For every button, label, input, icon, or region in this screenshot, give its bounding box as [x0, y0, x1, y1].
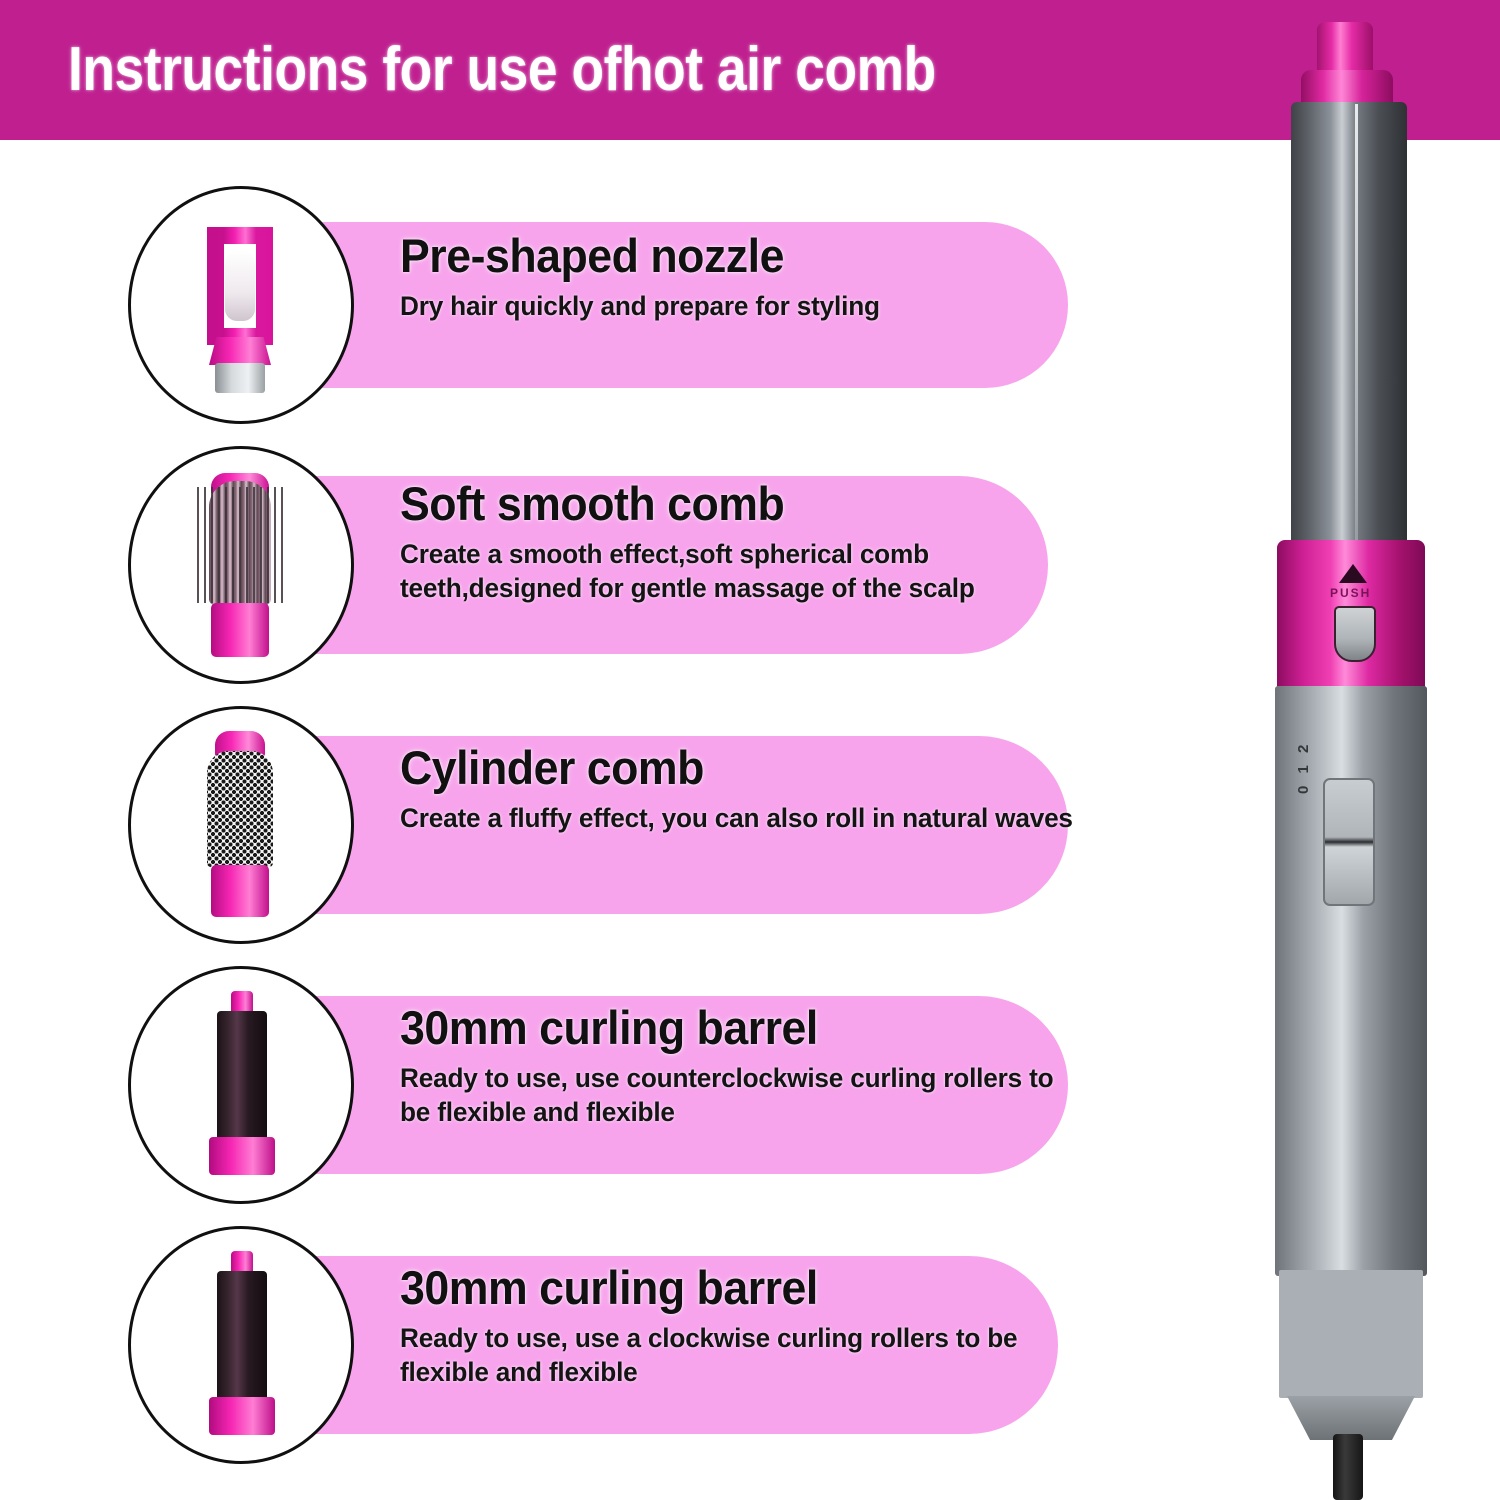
feature-title: Pre-shaped nozzle	[400, 232, 1065, 279]
feature-list: Pre-shaped nozzle Dry hair quickly and p…	[0, 140, 1200, 1500]
air-intake-mesh	[1279, 1270, 1423, 1398]
device-barrel-seam	[1355, 104, 1358, 548]
hot-air-styler-device: PUSH 0 1 2	[1205, 0, 1500, 1500]
feature-thumbnail-oval	[128, 706, 354, 944]
cylinder-comb-icon	[181, 725, 301, 925]
curling-barrel-clockwise-icon	[181, 1245, 301, 1445]
feature-thumbnail-oval	[128, 1226, 354, 1464]
feature-text-block: Cylinder comb Create a fluffy effect, yo…	[400, 744, 1100, 835]
feature-description: Ready to use, use a clockwise curling ro…	[400, 1321, 1079, 1389]
feature-text-block: Soft smooth comb Create a smooth effect,…	[400, 480, 1100, 605]
feature-title: 30mm curling barrel	[400, 1264, 1065, 1311]
feature-thumbnail-oval	[128, 966, 354, 1204]
feature-title: 30mm curling barrel	[400, 1004, 1065, 1051]
feature-row-soft-smooth-comb: Soft smooth comb Create a smooth effect,…	[0, 446, 1200, 706]
feature-title: Cylinder comb	[400, 744, 1065, 791]
push-triangle-icon	[1339, 564, 1367, 583]
feature-title: Soft smooth comb	[400, 480, 1065, 527]
feature-description: Dry hair quickly and prepare for styling	[400, 289, 1079, 323]
power-cord	[1333, 1434, 1363, 1500]
attachment-release-button[interactable]	[1334, 606, 1376, 662]
feature-text-block: 30mm curling barrel Ready to use, use co…	[400, 1004, 1100, 1129]
speed-switch-slider[interactable]	[1323, 778, 1375, 906]
feature-thumbnail-oval	[128, 446, 354, 684]
curling-barrel-counterclockwise-icon	[181, 985, 301, 1185]
push-label: PUSH	[1330, 586, 1371, 600]
device-handle: 0 1 2	[1275, 686, 1427, 1276]
soft-smooth-comb-icon	[181, 465, 301, 665]
feature-row-curling-barrel-cw: 30mm curling barrel Ready to use, use a …	[0, 1226, 1200, 1486]
page-title: Instructions for use ofhot air comb	[68, 34, 936, 105]
feature-text-block: 30mm curling barrel Ready to use, use a …	[400, 1264, 1100, 1389]
feature-text-block: Pre-shaped nozzle Dry hair quickly and p…	[400, 232, 1100, 323]
feature-row-pre-shaped-nozzle: Pre-shaped nozzle Dry hair quickly and p…	[0, 186, 1200, 446]
pre-shaped-nozzle-icon	[181, 205, 301, 405]
device-release-collar: PUSH	[1277, 540, 1425, 690]
device-barrel	[1291, 102, 1407, 552]
feature-row-cylinder-comb: Cylinder comb Create a fluffy effect, yo…	[0, 706, 1200, 966]
feature-row-curling-barrel-ccw: 30mm curling barrel Ready to use, use co…	[0, 966, 1200, 1226]
feature-description: Create a smooth effect,soft spherical co…	[400, 537, 1079, 605]
speed-switch-marks: 0 1 2	[1295, 741, 1312, 794]
feature-thumbnail-oval	[128, 186, 354, 424]
feature-description: Create a fluffy effect, you can also rol…	[400, 801, 1079, 835]
feature-description: Ready to use, use counterclockwise curli…	[400, 1061, 1079, 1129]
